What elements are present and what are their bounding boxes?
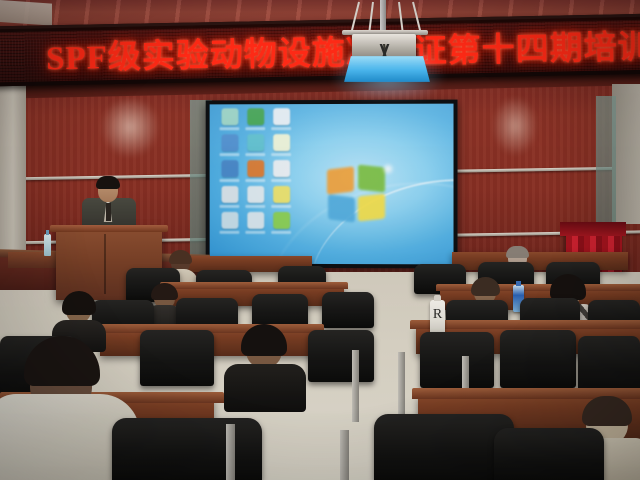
lecture-hall-photo: SPF级实验动物设施准入证第十四期培训班 [0, 0, 640, 480]
desktop-icon-11[interactable] [243, 186, 267, 208]
podium-top-surface [50, 225, 168, 232]
attendee-hair [550, 274, 586, 300]
desktop-icon-4-label [220, 153, 240, 156]
chair-row1-b[interactable] [374, 414, 514, 480]
desktop-icon-14[interactable] [243, 212, 267, 234]
attendee-front-left [0, 372, 130, 480]
presenter-glasses-icon [99, 187, 117, 191]
attendee-hair [169, 250, 192, 264]
white-water-bottle[interactable]: R [430, 300, 445, 334]
desktop-icon-11-label [245, 205, 265, 208]
windows-logo-quadrant-orange [327, 166, 354, 194]
bottle-label-text: R [430, 308, 445, 322]
desktop-icon-7[interactable] [218, 160, 242, 182]
attendee-hair [241, 324, 287, 356]
attendee-hair [151, 283, 178, 300]
desktop-icon-2-label [245, 127, 265, 130]
desktop-icon-1[interactable] [218, 108, 242, 130]
desktop-icon-12-glyph [273, 186, 290, 203]
desktop-icon-15[interactable] [269, 212, 293, 234]
desktop-icon-grid[interactable] [218, 108, 292, 234]
desktop-icon-9-label [271, 179, 291, 182]
desktop-icon-3-glyph [273, 108, 290, 125]
desktop-icon-13[interactable] [218, 212, 242, 234]
windows-logo-sparkle-icon [381, 162, 395, 176]
desktop-icon-13-label [220, 231, 240, 234]
chair-row2-f[interactable] [578, 336, 640, 396]
desk-leg-d [226, 424, 235, 480]
wall-panel-right [612, 84, 640, 224]
desktop-icon-2-glyph [247, 108, 264, 125]
desktop-icon-11-glyph [247, 186, 264, 203]
attendee-hair [471, 277, 500, 296]
attendee-hair [62, 291, 96, 315]
presenter-tie [106, 203, 111, 221]
attendee-body [224, 364, 306, 412]
desktop-icon-8[interactable] [243, 160, 267, 182]
desktop-icon-5[interactable] [243, 134, 267, 156]
desktop-icon-5-glyph [247, 134, 264, 151]
chair-row1-a[interactable] [112, 418, 262, 480]
desktop-icon-14-glyph [247, 212, 264, 229]
desktop-icon-5-label [245, 153, 265, 156]
chair-row2-d[interactable] [420, 332, 494, 388]
desk-row3-left-top [160, 282, 348, 289]
chair-row1-c[interactable] [494, 428, 604, 480]
wall-light-reflection-right [492, 96, 538, 156]
chair-row2-e[interactable] [500, 330, 576, 388]
desktop-icon-13-glyph [221, 212, 238, 229]
desktop-icon-7-glyph [221, 160, 238, 177]
desktop-icon-8-label [245, 179, 265, 182]
desktop-icon-4-glyph [221, 134, 238, 151]
podium-water-bottle [44, 234, 51, 256]
desktop-icon-14-label [245, 231, 265, 234]
windows-logo [327, 166, 389, 224]
side-table [8, 252, 60, 268]
desktop-icon-8-glyph [247, 160, 264, 177]
desktop-icon-7-label [220, 179, 240, 182]
attendee-center-front [228, 328, 300, 404]
desktop-icon-9[interactable] [269, 160, 293, 182]
desktop-icon-15-label [271, 231, 291, 234]
desktop-icon-10[interactable] [218, 186, 242, 208]
desktop-icon-9-glyph [273, 160, 290, 177]
desktop-icon-6[interactable] [269, 134, 293, 156]
desktop-icon-6-glyph [273, 134, 290, 151]
chair-row2-c[interactable] [308, 330, 374, 382]
desktop-icon-1-glyph [221, 108, 238, 125]
windows-logo-quadrant-blue [328, 194, 355, 222]
windows-logo-quadrant-yellow [358, 194, 385, 222]
led-banner: SPF级实验动物设施准入证第十四期培训班 [0, 14, 640, 87]
desktop-icon-12-label [271, 205, 291, 208]
desktop-icon-3[interactable] [269, 108, 293, 130]
projected-desktop [210, 104, 454, 265]
podium-seam [104, 234, 106, 294]
desk-leg-a [352, 350, 359, 422]
desktop-icon-12[interactable] [269, 186, 293, 208]
chair-row3-d[interactable] [322, 292, 374, 328]
wall-light-reflection-left [100, 96, 160, 158]
desktop-icon-2[interactable] [243, 108, 267, 130]
projector-light-beam [344, 56, 430, 82]
desktop-icon-15-glyph [273, 212, 290, 229]
desktop-icon-1-label [220, 127, 240, 130]
desktop-icon-4[interactable] [218, 134, 242, 156]
chair-row2-b[interactable] [140, 330, 214, 386]
desktop-icon-6-label [271, 153, 291, 156]
desktop-icon-3-label [271, 127, 291, 130]
attendee-hair [506, 246, 529, 258]
desktop-icon-10-glyph [221, 186, 238, 203]
desk-leg-e [340, 430, 349, 480]
ceiling-panel-left [0, 0, 52, 26]
curtain-valance [560, 222, 626, 236]
desktop-icon-10-label [220, 205, 240, 208]
projection-screen [206, 100, 458, 269]
